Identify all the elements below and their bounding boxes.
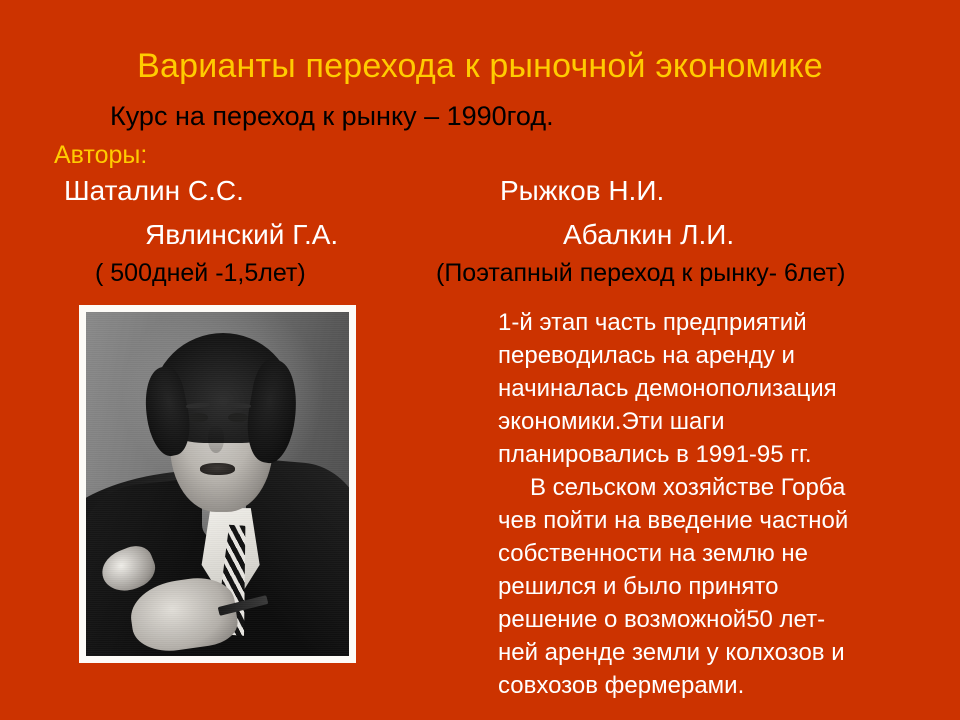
- body-line: решился и было принято: [498, 570, 870, 603]
- author-name-shatalin: Шаталин С.С.: [64, 174, 244, 208]
- body-line: решение о возможной50 лет-: [498, 603, 870, 636]
- note-left-plan-duration: ( 500дней -1,5лет): [95, 258, 306, 289]
- body-line: экономики.Эти шаги: [498, 405, 870, 438]
- body-paragraph: 1-й этап часть предприятийпереводилась н…: [498, 306, 870, 702]
- body-line: 1-й этап часть предприятий: [498, 306, 870, 339]
- body-line: совхозов фермерами.: [498, 669, 870, 702]
- author-name-ryzhkov: Рыжков Н.И.: [500, 174, 664, 208]
- body-line: В сельском хозяйстве Горба: [498, 471, 870, 504]
- note-right-plan-duration: (Поэтапный переход к рынку- 6лет): [436, 258, 845, 289]
- portrait-photo-frame: [79, 305, 356, 663]
- presentation-slide: Варианты перехода к рыночной экономике К…: [0, 0, 960, 720]
- body-line: переводилась на аренду и: [498, 339, 870, 372]
- portrait-photo: [86, 312, 349, 656]
- body-line: планировались в 1991-95 гг.: [498, 438, 870, 471]
- slide-title: Варианты перехода к рыночной экономике: [0, 46, 960, 86]
- body-line: начиналась демонополизация: [498, 372, 870, 405]
- body-line: собственности на землю не: [498, 537, 870, 570]
- author-name-abalkin: Абалкин Л.И.: [563, 218, 734, 252]
- photo-mouth: [200, 463, 234, 475]
- slide-subtitle: Курс на переход к рынку – 1990год.: [110, 100, 554, 133]
- body-line: чев пойти на введение частной: [498, 504, 870, 537]
- authors-heading: Авторы:: [54, 140, 147, 170]
- body-line: ней аренде земли у колхозов и: [498, 636, 870, 669]
- photo-nose: [208, 426, 224, 454]
- author-name-yavlinsky: Явлинский Г.А.: [145, 218, 338, 252]
